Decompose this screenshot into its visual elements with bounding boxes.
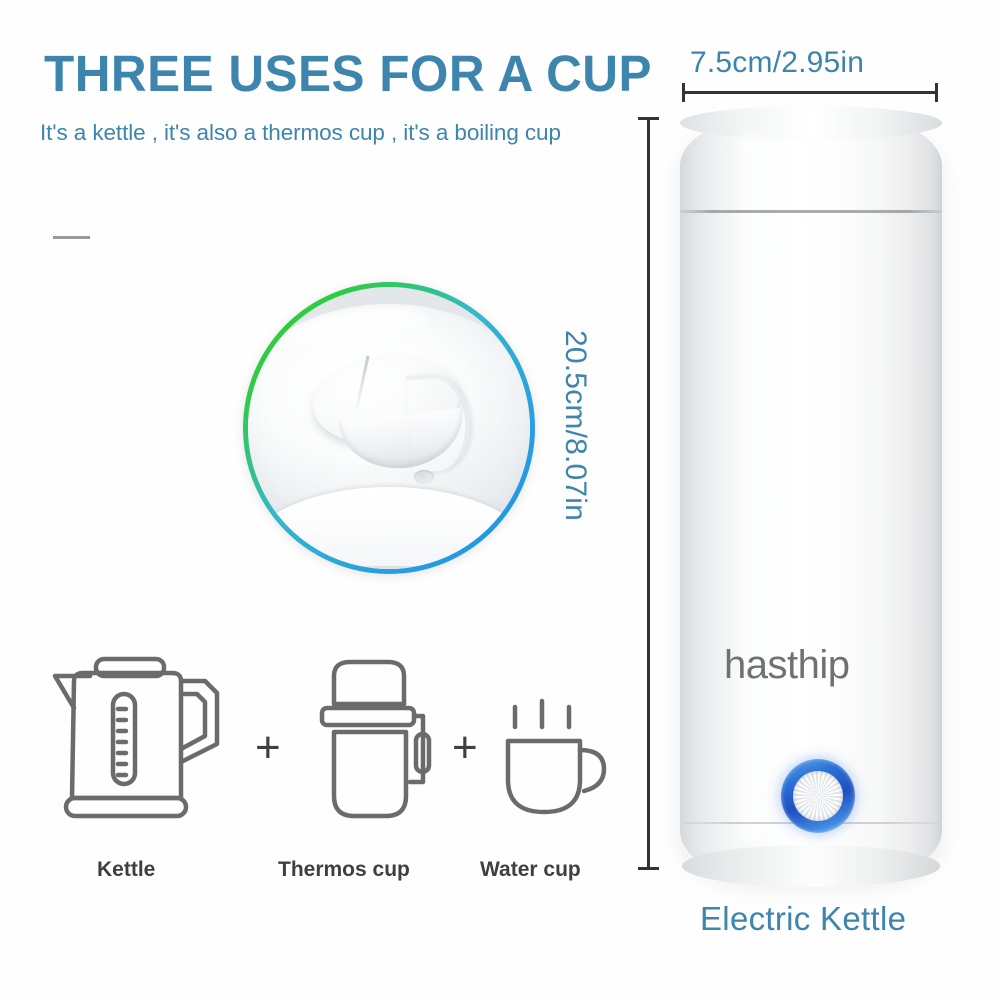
use-item-kettle [50, 636, 240, 836]
kettle-lid-seam [680, 210, 942, 213]
decorative-dash [53, 236, 90, 239]
kettle-top-cap [680, 106, 942, 140]
three-uses-row: + + Kettle Thermos cup Water cup [40, 636, 640, 846]
height-dimension-label: 20.5cm/8.07in [558, 330, 592, 521]
brand-logo: hasthip [724, 643, 849, 688]
plus-separator-1: + [255, 726, 281, 770]
page-title: THREE USES FOR A CUP [44, 48, 652, 99]
product-image-kettle: hasthip [680, 112, 942, 877]
use-item-thermos [310, 656, 445, 826]
power-button[interactable] [781, 759, 855, 833]
infographic-canvas: THREE USES FOR A CUP It's a kettle , it'… [0, 0, 1000, 1000]
plus-separator-2: + [452, 726, 478, 770]
use-label-thermos: Thermos cup [278, 858, 410, 882]
power-button-core [793, 771, 843, 821]
use-item-water-cup [490, 694, 615, 829]
height-dimension-line [647, 117, 650, 870]
kettle-icon [50, 636, 240, 836]
kettle-bottom-cap [682, 845, 940, 887]
page-subtitle: It's a kettle , it's also a thermos cup … [40, 120, 561, 146]
use-label-kettle: Kettle [97, 858, 155, 882]
width-dimension-line [682, 91, 938, 94]
lid-closeup-image [248, 287, 530, 569]
use-label-water-cup: Water cup [480, 858, 581, 882]
thermos-icon [310, 656, 445, 826]
width-dimension-label: 7.5cm/2.95in [690, 46, 864, 80]
lid-closeup-inset [243, 282, 535, 574]
kettle-highlight [732, 135, 774, 839]
water-cup-icon [490, 694, 615, 829]
product-caption: Electric Kettle [700, 900, 906, 938]
